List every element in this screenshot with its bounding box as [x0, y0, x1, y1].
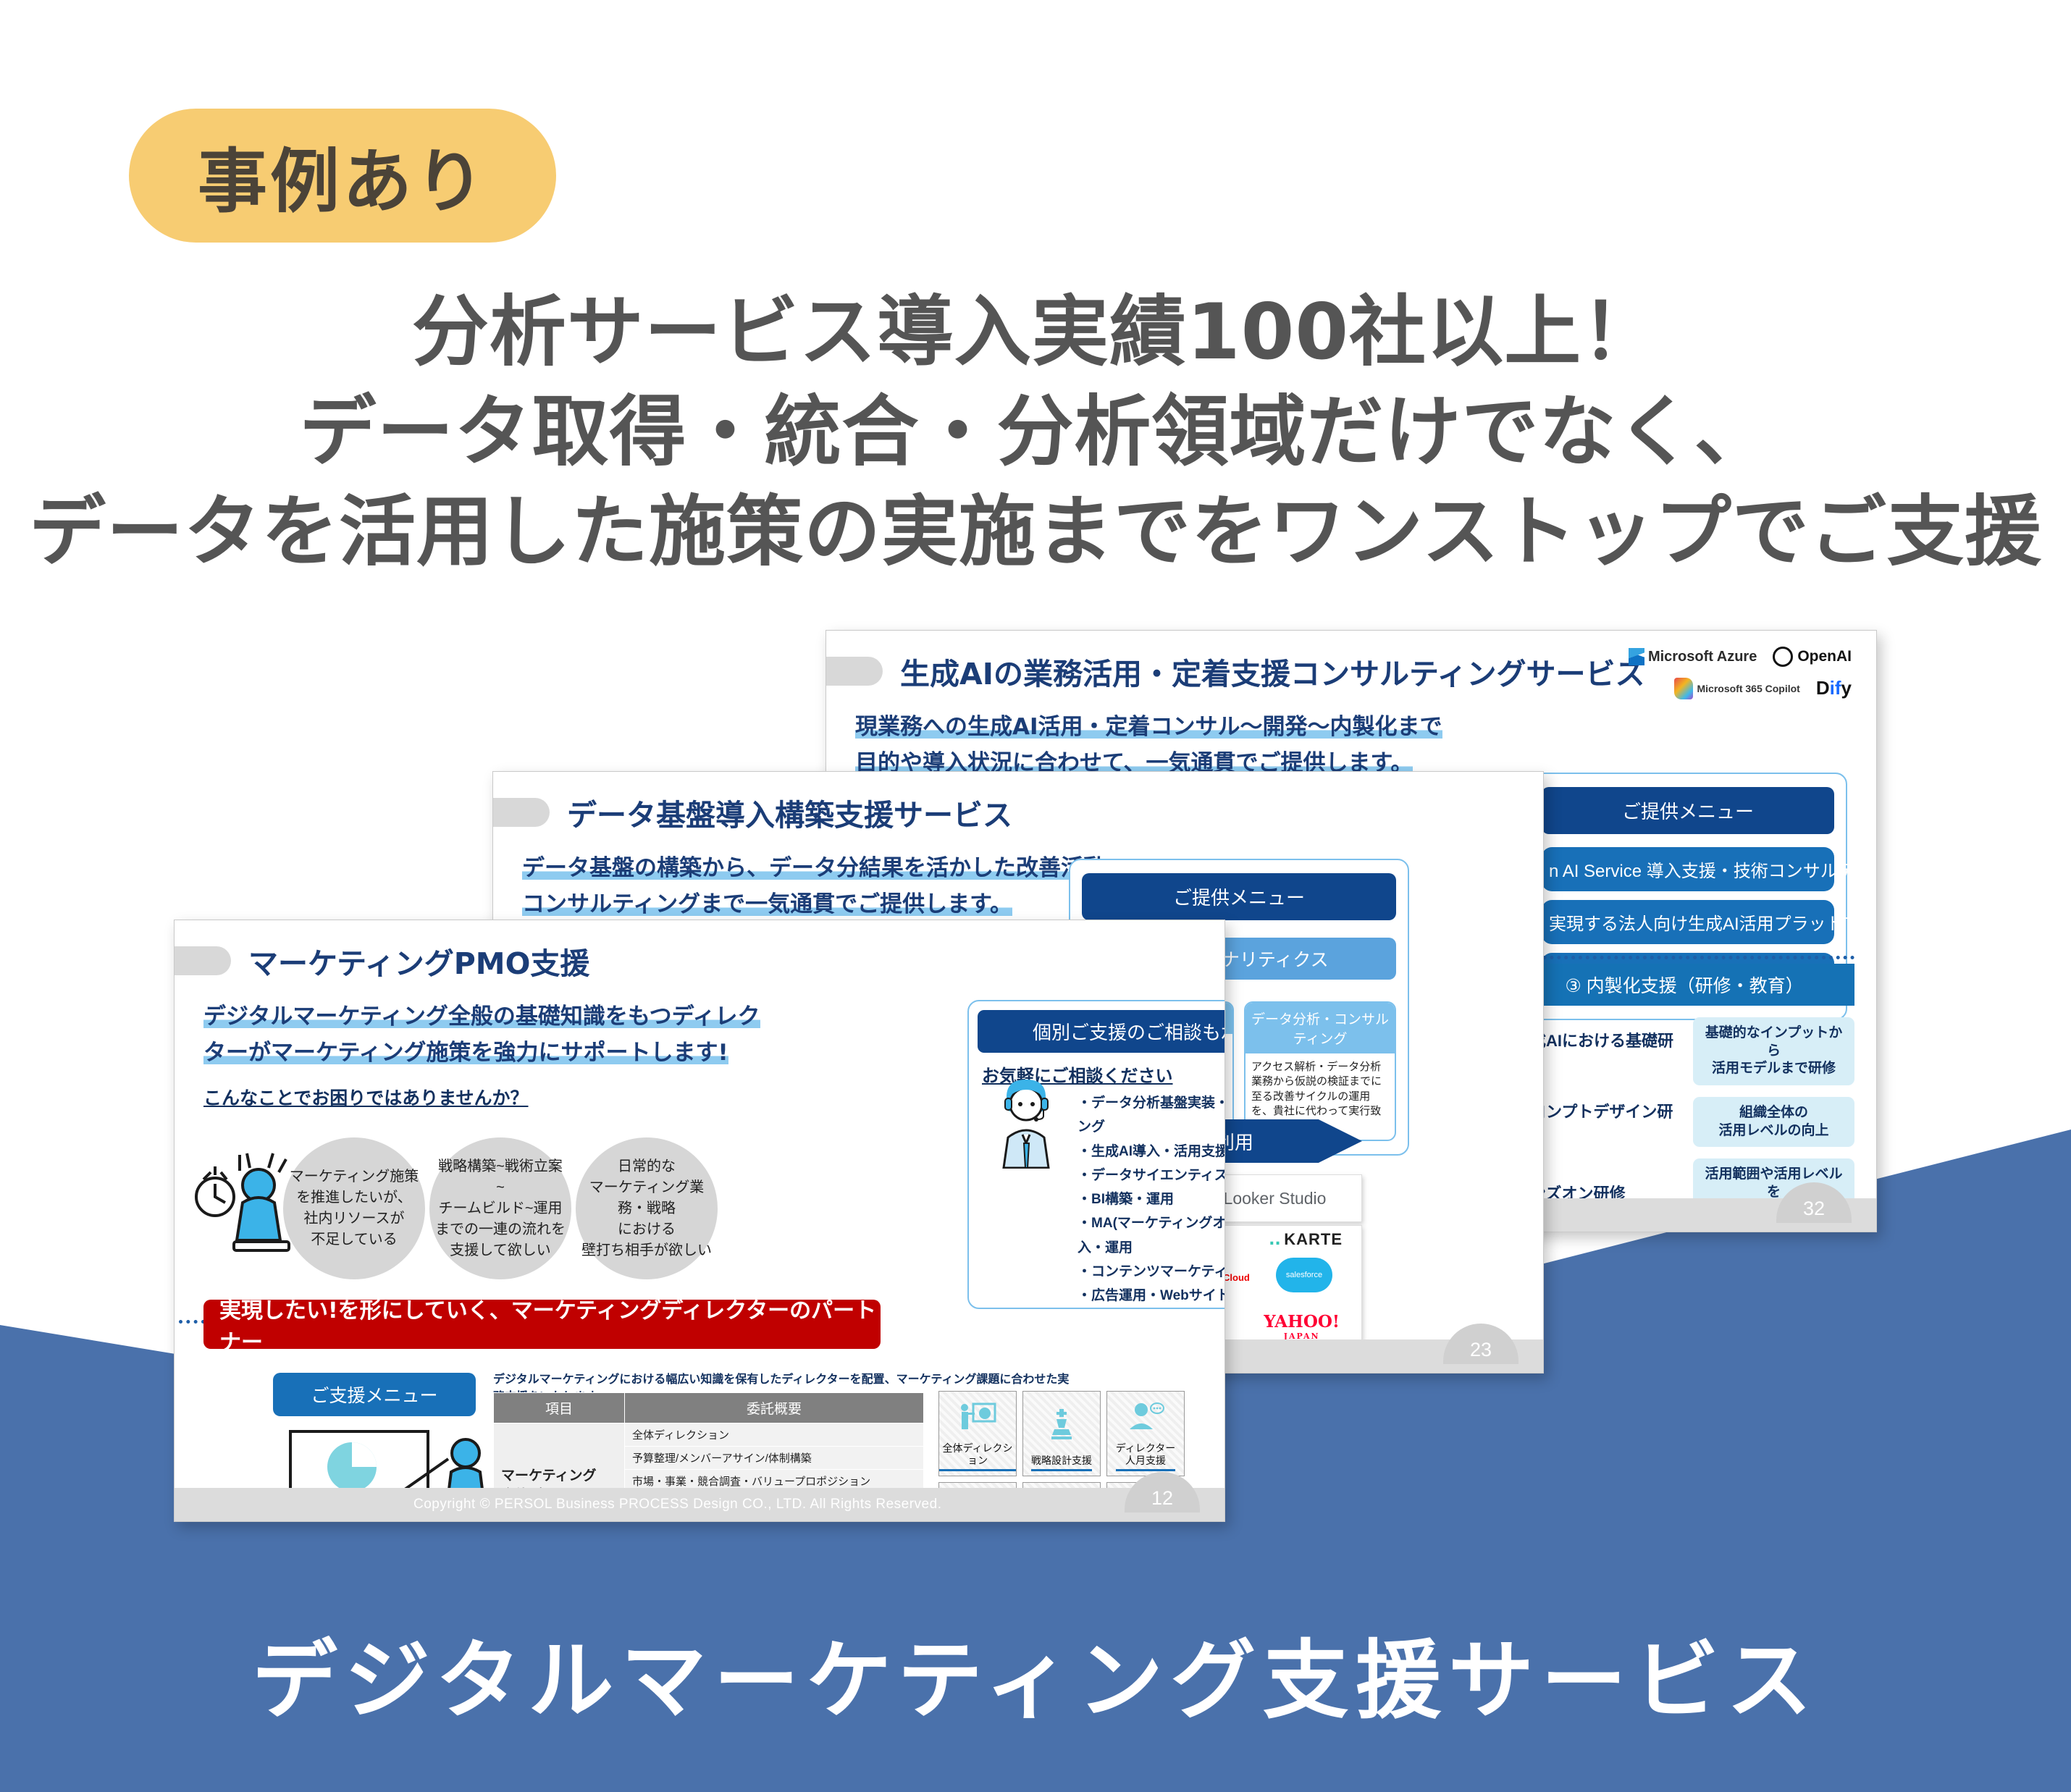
microsoft-copilot-logo: Microsoft 365 Copilot	[1674, 678, 1800, 699]
headline-line-2: データ取得・統合・分析領域だけでなく、	[0, 382, 2071, 482]
ai-menu-item[interactable]: n AI Service 導入支援・技術コンサルティング	[1542, 847, 1834, 891]
headline-line-1: 分析サービス導入実績100社以上！	[0, 282, 2071, 382]
pain-bubble: マーケティング施策 を推進したいが、 社内リソースが 不足している	[283, 1137, 425, 1279]
table-header: 委託概要	[625, 1393, 924, 1423]
karte-icon: ․․	[1269, 1230, 1282, 1248]
section3-head: ③ 内製化支援（研修・教育）	[1514, 964, 1854, 1006]
title-pill	[493, 798, 550, 827]
karte-logo: ․․KARTE	[1269, 1230, 1343, 1249]
icon-caption: ディレクター 人月支援	[1116, 1442, 1175, 1471]
consult-item: BI構築・運用	[1077, 1187, 1225, 1211]
yahoo-japan-logo: YAHOO!JAPAN	[1264, 1312, 1340, 1341]
red-band-dots	[179, 1320, 205, 1324]
support-menu-head: ご支援メニュー	[273, 1373, 476, 1416]
table-header: 項目	[494, 1393, 625, 1423]
consult-item: コンテンツマーケティング	[1077, 1260, 1225, 1284]
section3-row-value: 基礎的なインプットから 活用モデルまで研修	[1693, 1017, 1854, 1085]
title-pill	[175, 946, 231, 975]
section3-row-value: 組織全体の 活用レベルの向上	[1693, 1097, 1854, 1147]
page-number-data: 23	[1443, 1324, 1518, 1364]
consult-item: MA(マーケティングオートメーション)導入・運用	[1077, 1211, 1225, 1260]
service-icon-cell[interactable]: 全体ディレクション	[938, 1391, 1017, 1476]
title-pill	[826, 657, 883, 686]
consult-bullet-list: データ分析基盤実装・データコンサルティング 生成AI導入・活用支援コンサルティン…	[1077, 1091, 1225, 1308]
pmo-lead-line-1: デジタルマーケティング全般の基礎知識をもつディレク	[203, 1004, 760, 1030]
openai-icon	[1773, 647, 1793, 667]
table-row: マーケティング 全体ディレクション 戦略・戦術設計ご支援 全体ディレクション	[494, 1423, 924, 1447]
pain-bubble: 戦略構築~戦術立案~ チームビルド~運用 までの一連の流れを 支援して欲しい	[429, 1137, 571, 1279]
dotted-divider	[1514, 956, 1854, 959]
service-icon-cell[interactable]: 戦略設計支援	[1022, 1391, 1101, 1476]
data-lead-line-2: コンサルティングまで一気通貫でご提供します。	[522, 891, 1012, 917]
slide-title-pmo: マーケティングPMO支援	[248, 939, 589, 983]
worried-person-icon	[189, 1146, 298, 1269]
bottom-service-title: デジタルマーケティング支援サービス	[0, 1611, 2071, 1735]
service-icon-cell[interactable]: ディレクター 人月支援	[1106, 1391, 1185, 1476]
support-agent-icon	[986, 1071, 1066, 1169]
consult-item: 広告運用・Webサイト制作	[1077, 1284, 1225, 1308]
salesforce-logo: salesforce	[1276, 1258, 1332, 1292]
ai-partner-logos: Microsoft Azure OpenAI Microsoft 365 Cop…	[1613, 647, 1852, 710]
chess-piece-icon	[1047, 1392, 1076, 1455]
dify-logo: Dify	[1816, 677, 1852, 699]
consult-item: 生成AI導入・活用支援コンサルティング	[1077, 1140, 1225, 1164]
icon-caption: 全体ディレクション	[939, 1442, 1016, 1471]
case-study-badge: 事例あり	[129, 109, 556, 243]
slide-footer-copyright: Copyright © PERSOL Business PROCESS Desi…	[175, 1488, 1224, 1521]
ai-menu-head: ご提供メニュー	[1542, 787, 1834, 834]
badge-label: 事例あり	[198, 125, 487, 226]
pain-bubble: 日常的な マーケティング業務・戦略 における 壁打ち相手が欲しい	[576, 1137, 718, 1279]
microsoft-azure-logo: Microsoft Azure	[1629, 648, 1757, 665]
slide-title-ai: 生成AIの業務活用・定着支援コンサルティングサービス	[900, 649, 1645, 693]
consult-head: 個別ご支援のご相談も承ります	[978, 1010, 1225, 1053]
consultation-panel: 個別ご支援のご相談も承ります お気軽にご相談ください データ分析基盤実装・データ…	[967, 1000, 1225, 1309]
red-tagline-band: 実現したい!を形にしていく、マーケティングディレクターのパートナー	[203, 1300, 881, 1349]
mini-card-head: データ分析・コンサルティング	[1245, 1003, 1395, 1053]
slide-title-data: データ基盤導入構築支援サービス	[567, 791, 1012, 834]
headline-line-3: データを活用した施策の実施までをワンストップでご支援	[0, 482, 2071, 582]
pain-point-bubbles: マーケティング施策 を推進したいが、 社内リソースが 不足している 戦略構築~戦…	[283, 1137, 718, 1279]
data-menu-head: ご提供メニュー	[1082, 873, 1396, 920]
ai-menu-item[interactable]: 実現する法人向け生成AI活用プラットフォーム	[1542, 900, 1834, 944]
table-cell: 予算整理/メンバーアサイン/体制構築	[625, 1447, 924, 1470]
consult-item: データ分析基盤実装・データコンサルティング	[1077, 1091, 1225, 1140]
slide-marketing-pmo[interactable]: マーケティングPMO支援 デジタルマーケティング全般の基礎知識をもつディレク タ…	[174, 920, 1225, 1522]
presentation-icon	[959, 1392, 996, 1442]
azure-icon	[1629, 648, 1644, 665]
icon-caption: 戦略設計支援	[1031, 1455, 1092, 1471]
consult-item: データサイエンティスト・アナリスト支援	[1077, 1164, 1225, 1187]
openai-logo: OpenAI	[1773, 647, 1852, 667]
person-speech-icon	[1127, 1392, 1164, 1442]
page-headline: 分析サービス導入実績100社以上！ データ取得・統合・分析領域だけでなく、 デー…	[0, 282, 2071, 581]
ai-lead-line-1: 現業務への生成AI活用・定着コンサル〜開発〜内製化まで	[855, 714, 1442, 740]
pmo-lead-line-2: ターがマーケティング施策を強力にサポートします!	[203, 1040, 728, 1066]
table-cell: 全体ディレクション	[625, 1423, 924, 1447]
copilot-icon	[1674, 678, 1693, 699]
data-lead-line-1: データ基盤の構築から、データ分結果を活かした改善活動の	[522, 855, 1128, 881]
support-menu-panel: ご支援メニュー	[273, 1373, 476, 1416]
